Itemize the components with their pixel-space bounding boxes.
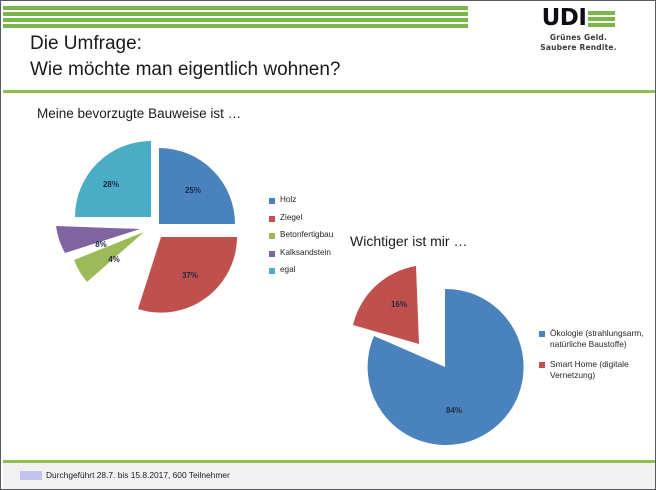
- legend-label: Ziegel: [280, 213, 302, 224]
- pie2-label-smarthome: 16%: [391, 300, 407, 309]
- legend-label-wrap: Smart Home (digitale Vernetzung): [550, 359, 629, 381]
- pie1-label-holz: 25%: [185, 186, 201, 195]
- legend-swatch-icon: [539, 362, 545, 368]
- logo-tagline: Grünes Geld. Saubere Rendite.: [506, 33, 651, 53]
- legend-swatch-icon: [269, 216, 275, 222]
- legend-item-holz[interactable]: Holz: [269, 195, 333, 206]
- chart2-pie: 84% 16%: [353, 263, 533, 453]
- slide-title: Die Umfrage: Wie möchte man eigentlich w…: [30, 31, 341, 83]
- pie1-label-egal: 28%: [103, 180, 119, 189]
- logo-tagline-line2: Saubere Rendite.: [506, 43, 651, 53]
- logo-bar: [588, 23, 615, 27]
- legend-label-line2: natürliche Baustoffe): [550, 339, 627, 349]
- chart1-legend: Holz Ziegel Betonfertigbau Kalksandstein…: [269, 195, 333, 283]
- legend-label: egal: [280, 265, 295, 276]
- header-stripe: [3, 6, 468, 10]
- logo-bar: [588, 17, 615, 21]
- pie1-label-betonfertigbau: 4%: [108, 255, 120, 264]
- chart1-title: Meine bevorzugte Bauweise ist …: [37, 106, 241, 121]
- footer-swatch-icon: [20, 471, 42, 480]
- legend-swatch-icon: [269, 233, 275, 239]
- presentation-slide: UDI Grünes Geld. Saubere Rendite. Die Um…: [0, 0, 656, 490]
- legend-swatch-icon: [269, 268, 275, 274]
- legend-item-smarthome[interactable]: Smart Home (digitale Vernetzung): [539, 359, 656, 381]
- pie2-label-oekologie: 84%: [446, 406, 462, 415]
- pie1-label-kalksandstein: 8%: [95, 240, 107, 249]
- legend-label-wrap: Ökologie (strahlungsarm, natürliche Baus…: [550, 328, 644, 350]
- logo-bar: [588, 11, 615, 15]
- pie1-slice-egal: [75, 141, 151, 217]
- header-divider: [3, 90, 655, 93]
- slide-title-line1: Die Umfrage:: [30, 31, 341, 57]
- logo-tagline-line1: Grünes Geld.: [506, 33, 651, 43]
- legend-label: Holz: [280, 195, 296, 206]
- legend-item-ziegel[interactable]: Ziegel: [269, 213, 333, 224]
- legend-label-line1: Ökologie (strahlungsarm,: [550, 328, 644, 338]
- header-stripe: [3, 24, 468, 28]
- legend-swatch-icon: [269, 198, 275, 204]
- logo-wordmark: UDI: [542, 7, 587, 30]
- legend-label-line2: Vernetzung): [550, 370, 595, 380]
- logo-row: UDI: [506, 5, 651, 31]
- legend-label-line1: Smart Home (digitale: [550, 359, 629, 369]
- udi-logo: UDI Grünes Geld. Saubere Rendite.: [506, 5, 651, 53]
- slide-title-line2: Wie möchte man eigentlich wohnen?: [30, 57, 341, 83]
- chart2-legend: Ökologie (strahlungsarm, natürliche Baus…: [539, 328, 656, 390]
- legend-item-egal[interactable]: egal: [269, 265, 333, 276]
- header-stripe: [3, 12, 468, 16]
- header-stripe: [3, 18, 468, 22]
- chart2-title: Wichtiger ist mir …: [350, 233, 467, 249]
- legend-label: Betonfertigbau: [280, 230, 333, 241]
- legend-label: Kalksandstein: [280, 248, 331, 259]
- pie1-label-ziegel: 37%: [182, 271, 198, 280]
- logo-bars-icon: [588, 10, 615, 27]
- legend-item-kalksandstein[interactable]: Kalksandstein: [269, 248, 333, 259]
- chart1-pie: 25% 37% 4% 8% 28%: [37, 129, 269, 321]
- pie2-slice-smarthome: [353, 266, 419, 344]
- legend-item-oekologie[interactable]: Ökologie (strahlungsarm, natürliche Baus…: [539, 328, 656, 350]
- legend-item-betonfertigbau[interactable]: Betonfertigbau: [269, 230, 333, 241]
- legend-swatch-icon: [539, 331, 545, 337]
- footer-note: Durchgeführt 28.7. bis 15.8.2017, 600 Te…: [46, 470, 230, 480]
- legend-swatch-icon: [269, 251, 275, 257]
- header-stripe-band: [3, 6, 468, 27]
